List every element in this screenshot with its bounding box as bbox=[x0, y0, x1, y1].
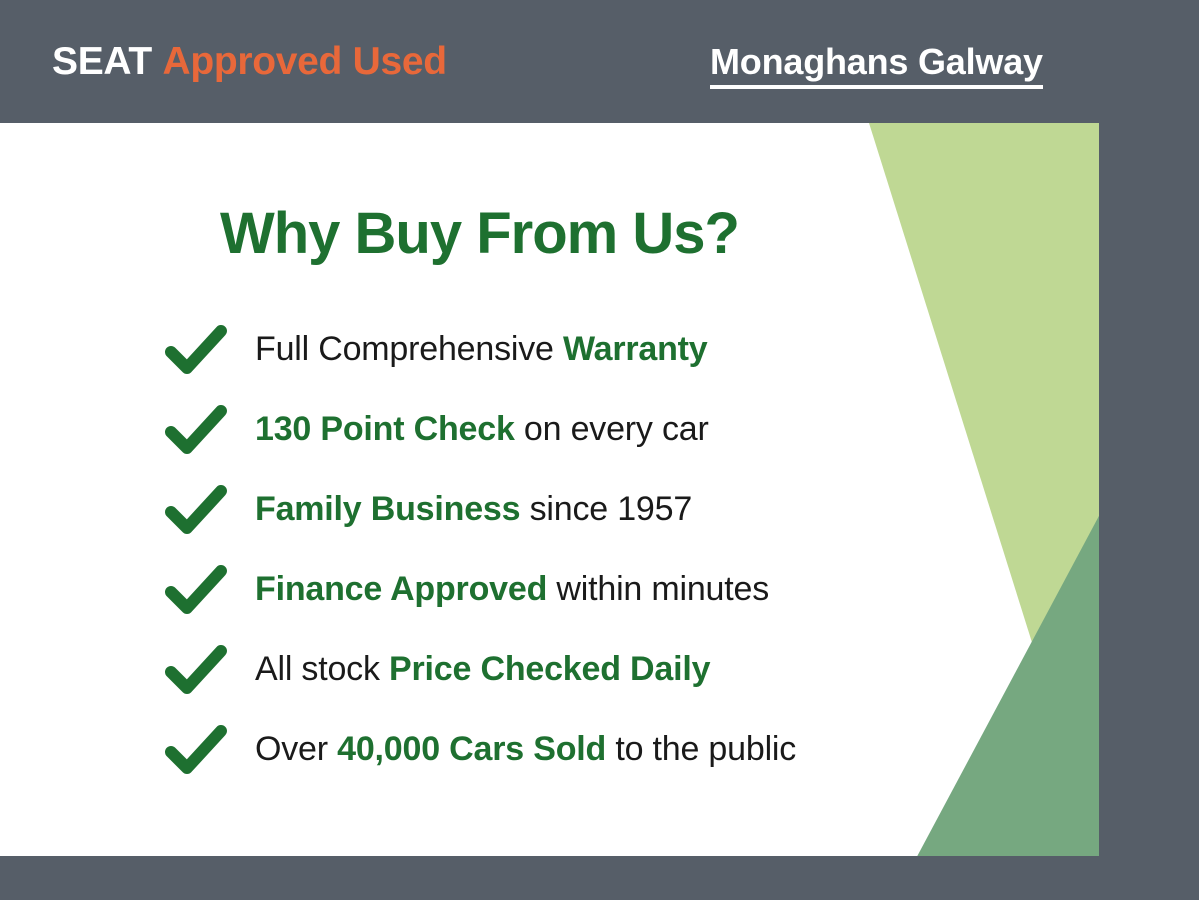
list-item: Over 40,000 Cars Sold to the public bbox=[165, 710, 965, 790]
benefits-list: Full Comprehensive Warranty130 Point Che… bbox=[165, 310, 965, 790]
list-item: Full Comprehensive Warranty bbox=[165, 310, 965, 390]
brand-approved-used-label: Approved Used bbox=[162, 40, 446, 83]
dealer-name: Monaghans Galway bbox=[710, 44, 1043, 89]
check-icon bbox=[165, 644, 227, 696]
highlighted-text: Family Business bbox=[255, 490, 520, 528]
check-icon bbox=[165, 564, 227, 616]
check-icon bbox=[165, 724, 227, 776]
list-item: Family Business since 1957 bbox=[165, 470, 965, 550]
check-icon bbox=[165, 404, 227, 456]
plain-text: since 1957 bbox=[520, 490, 692, 528]
brand-lockup: SEAT Approved Used bbox=[52, 42, 447, 81]
plain-text: to the public bbox=[606, 730, 796, 768]
footer-bar bbox=[0, 856, 1199, 900]
list-item-label: Family Business since 1957 bbox=[255, 492, 692, 528]
list-item-label: All stock Price Checked Daily bbox=[255, 652, 710, 688]
list-item-label: Over 40,000 Cars Sold to the public bbox=[255, 732, 796, 768]
list-item: Finance Approved within minutes bbox=[165, 550, 965, 630]
brand-seat-label: SEAT bbox=[52, 40, 152, 83]
page-title: Why Buy From Us? bbox=[220, 205, 739, 263]
list-item-label: Finance Approved within minutes bbox=[255, 572, 769, 608]
check-icon bbox=[165, 324, 227, 376]
list-item: All stock Price Checked Daily bbox=[165, 630, 965, 710]
highlighted-text: Price Checked Daily bbox=[389, 650, 710, 688]
highlighted-text: 40,000 Cars Sold bbox=[337, 730, 606, 768]
plain-text: within minutes bbox=[547, 570, 769, 608]
plain-text: All stock bbox=[255, 650, 389, 688]
list-item-label: Full Comprehensive Warranty bbox=[255, 332, 708, 368]
plain-text: on every car bbox=[515, 410, 709, 448]
highlighted-text: Finance Approved bbox=[255, 570, 547, 608]
plain-text: Over bbox=[255, 730, 337, 768]
list-item: 130 Point Check on every car bbox=[165, 390, 965, 470]
check-icon bbox=[165, 484, 227, 536]
highlighted-text: 130 Point Check bbox=[255, 410, 515, 448]
slide-canvas: SEAT Approved Used Monaghans Galway Why … bbox=[0, 0, 1199, 900]
highlighted-text: Warranty bbox=[563, 330, 708, 368]
header-bar: SEAT Approved Used Monaghans Galway bbox=[0, 0, 1199, 123]
plain-text: Full Comprehensive bbox=[255, 330, 563, 368]
list-item-label: 130 Point Check on every car bbox=[255, 412, 709, 448]
